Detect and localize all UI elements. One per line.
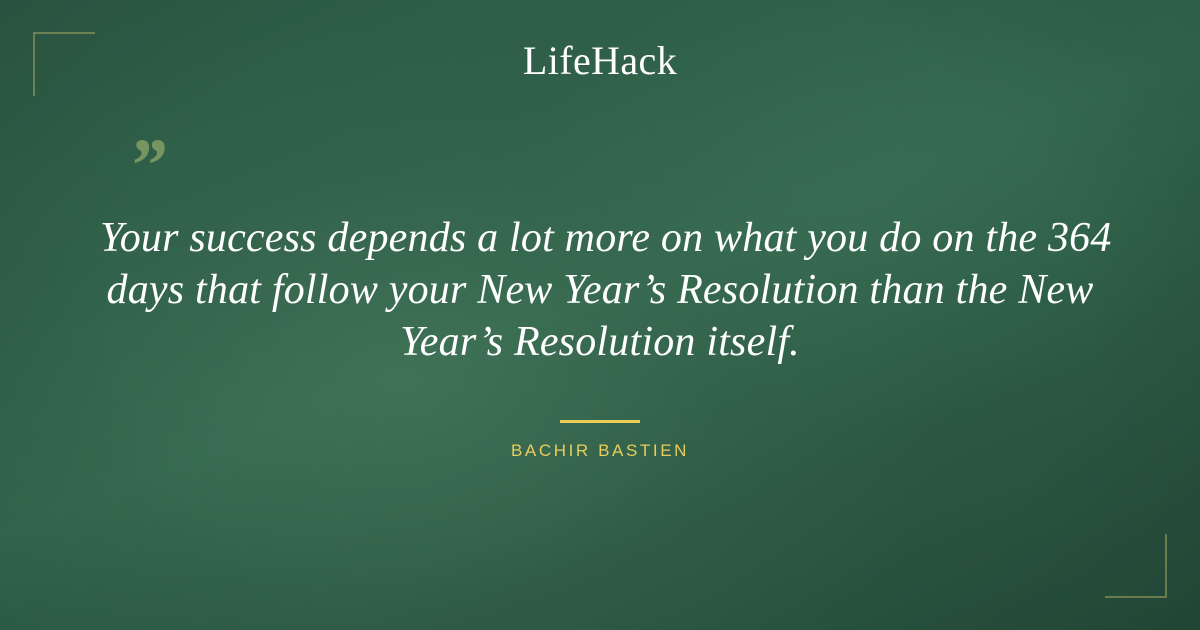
quote-author: BACHIR BASTIEN	[0, 440, 1200, 462]
quote-text: Your success depends a lot more on what …	[100, 212, 1100, 368]
quote-card: LifeHack ” Your success depends a lot mo…	[0, 0, 1200, 630]
divider-rule	[560, 420, 640, 423]
quote-line: Your success depends a lot more on what …	[100, 212, 1100, 264]
quote-line: days that follow your New Year’s Resolut…	[100, 264, 1100, 316]
corner-bracket-bottom-right-icon	[1105, 534, 1167, 598]
quote-line: Year’s Resolution itself.	[100, 316, 1100, 368]
quotation-mark-icon: ”	[128, 128, 164, 204]
divider	[0, 410, 1200, 428]
brand-logo: LifeHack	[0, 38, 1200, 84]
